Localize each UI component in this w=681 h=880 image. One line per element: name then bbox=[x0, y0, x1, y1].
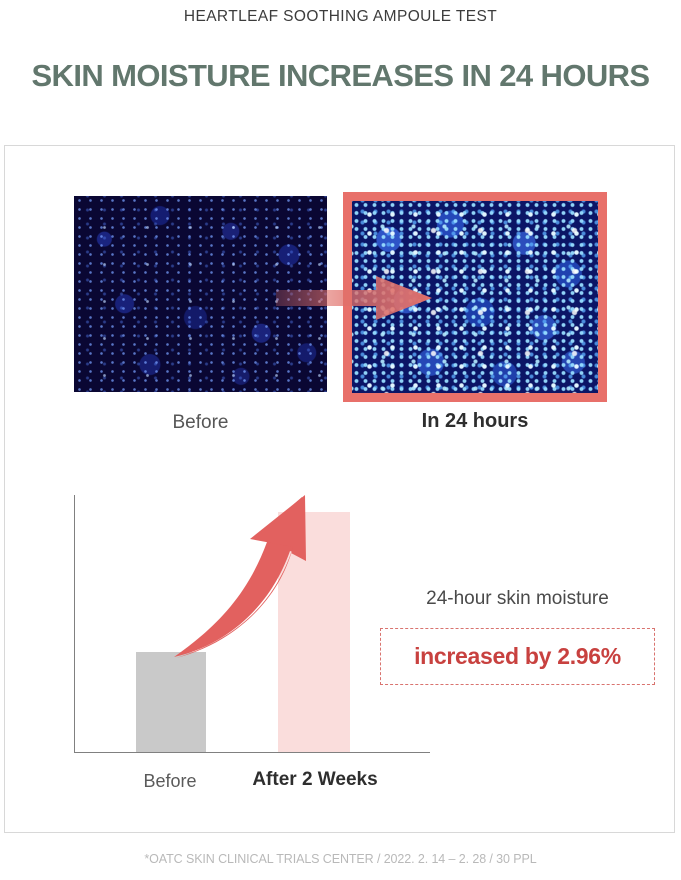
caption-before: Before bbox=[74, 412, 327, 434]
callout-title: 24-hour skin moisture bbox=[380, 588, 655, 610]
chart-y-axis bbox=[74, 495, 75, 753]
callout-value: increased by 2.96% bbox=[414, 643, 621, 670]
caption-after: In 24 hours bbox=[343, 410, 607, 433]
bar-chart bbox=[60, 495, 430, 765]
callout-box: increased by 2.96% bbox=[380, 628, 655, 685]
page-title: SKIN MOISTURE INCREASES IN 24 HOURS bbox=[0, 58, 681, 94]
chart-label-after: After 2 Weeks bbox=[231, 769, 399, 791]
eyebrow-text: HEARTLEAF SOOTHING AMPOULE TEST bbox=[0, 8, 681, 26]
chart-label-before: Before bbox=[120, 771, 220, 792]
footnote-text: *OATC SKIN CLINICAL TRIALS CENTER / 2022… bbox=[0, 852, 681, 866]
right-arrow-icon bbox=[276, 275, 432, 321]
upward-curved-arrow-icon bbox=[150, 495, 380, 753]
